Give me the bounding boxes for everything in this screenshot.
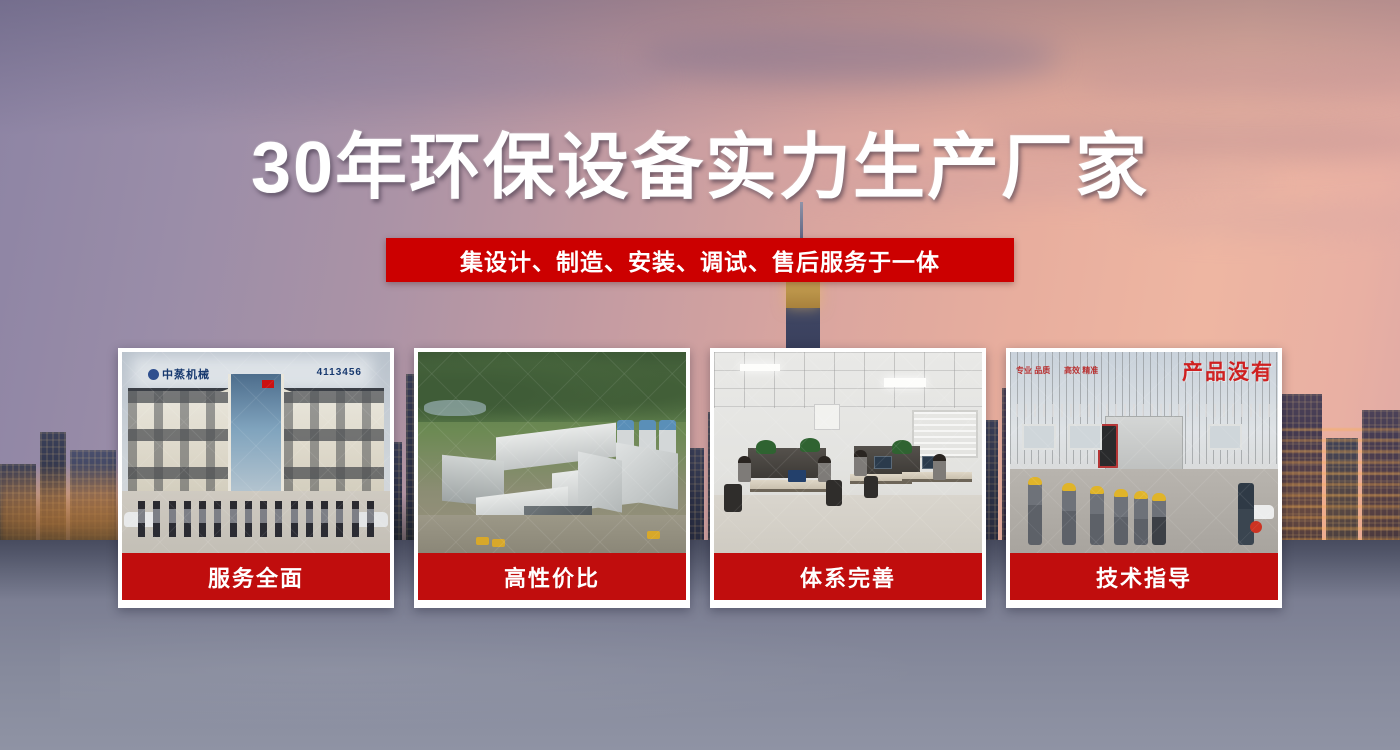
card-caption: 高性价比 (418, 553, 686, 600)
card-photo-office-building: 中蒸机械 4113456 (122, 352, 390, 553)
factory-slogan-left: 专业 品质 (1016, 366, 1050, 376)
card-caption: 服务全面 (122, 553, 390, 600)
feature-card[interactable]: 产品没有 专业 品质 高效 精准 (1006, 348, 1282, 608)
subtitle-text: 集设计、制造、安装、调试、售后服务于一体 (460, 243, 940, 277)
red-helmet-icon (1250, 521, 1262, 533)
card-photo-workers-training: 产品没有 专业 品质 高效 精准 (1010, 352, 1278, 553)
feature-card-row: 中蒸机械 4113456 服务全面 (118, 348, 1282, 608)
supervisor-figure (1238, 483, 1254, 545)
cloud-shape (640, 30, 1060, 84)
tower-spire (800, 202, 803, 242)
company-name-text: 中蒸机械 (162, 366, 210, 382)
card-caption: 技术指导 (1010, 553, 1278, 600)
building-sign: 中蒸机械 (148, 366, 210, 382)
staff-lineup (138, 501, 374, 537)
water-reflection (60, 610, 960, 730)
cloud-shape (1080, 60, 1400, 100)
factory-wall-text: 产品没有 (1182, 356, 1274, 386)
cloud-shape (150, 58, 670, 98)
card-photo-office-interior (714, 352, 982, 553)
wall-poster (814, 404, 840, 430)
company-logo-icon (148, 369, 159, 380)
page-title: 30年环保设备实力生产厂家 (0, 132, 1400, 204)
feature-card[interactable]: 中蒸机械 4113456 服务全面 (118, 348, 394, 608)
feature-card[interactable]: 体系完善 (710, 348, 986, 608)
card-photo-factory-aerial (418, 352, 686, 553)
card-caption: 体系完善 (714, 553, 982, 600)
promo-banner: 30年环保设备实力生产厂家 集设计、制造、安装、调试、售后服务于一体 中蒸机械 … (0, 0, 1400, 750)
factory-slogan-mid: 高效 精准 (1064, 366, 1098, 376)
subtitle-banner: 集设计、制造、安装、调试、售后服务于一体 (386, 238, 1014, 282)
phone-number-text: 4113456 (317, 367, 362, 378)
feature-card[interactable]: 高性价比 (414, 348, 690, 608)
